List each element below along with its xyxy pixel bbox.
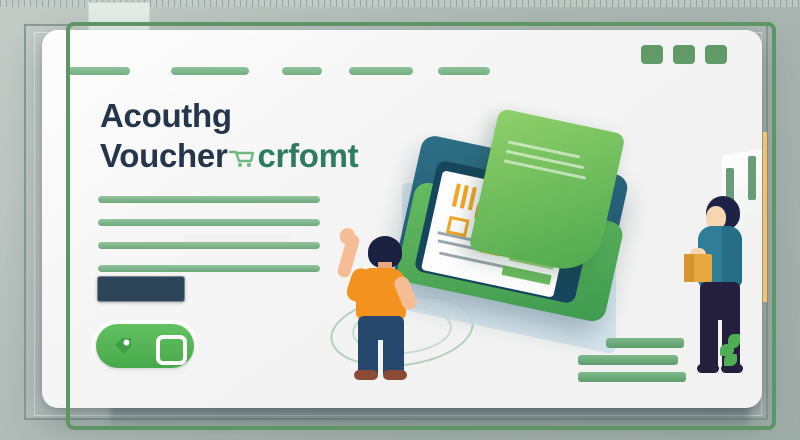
accent-frame <box>66 22 776 430</box>
screenshot-stage: Acouthg Vouchercrfomt <box>0 0 800 440</box>
accent-amber-segment <box>763 132 767 302</box>
